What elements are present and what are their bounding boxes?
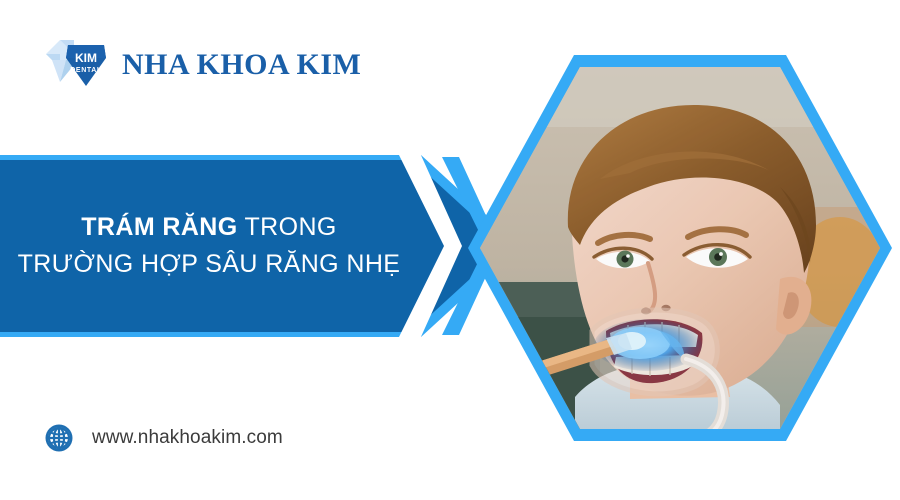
logo-mark-kim-text: KIM	[75, 51, 97, 65]
logo-mark-dental-text: DENTAL	[70, 67, 102, 74]
headline-line-2: TRƯỜNG HỢP SÂU RĂNG NHẸ	[18, 250, 401, 279]
headline-line-1-rest: TRONG	[238, 213, 337, 241]
headline-banner: TRÁM RĂNG TRONG TRƯỜNG HỢP SÂU RĂNG NHẸ	[0, 155, 520, 337]
diamond-logo-icon: KIM DENTAL	[44, 36, 108, 94]
brand-logo[interactable]: KIM DENTAL NHA KHOA KIM	[44, 36, 361, 94]
headline-line-1: TRÁM RĂNG TRONG	[81, 213, 337, 242]
globe-icon	[44, 423, 74, 453]
website-row[interactable]: www.nhakhoakim.com	[44, 419, 283, 457]
headline-text-block: TRÁM RĂNG TRONG TRƯỜNG HỢP SÂU RĂNG NHẸ	[0, 155, 418, 337]
website-url[interactable]: www.nhakhoakim.com	[92, 427, 283, 449]
headline-emphasis: TRÁM RĂNG	[81, 213, 237, 241]
brand-name: NHA KHOA KIM	[122, 50, 361, 80]
banner-canvas: KIM DENTAL NHA KHOA KIM TRÁM RĂNG TRONG …	[0, 0, 900, 500]
hexagon-photo-frame	[468, 55, 892, 441]
